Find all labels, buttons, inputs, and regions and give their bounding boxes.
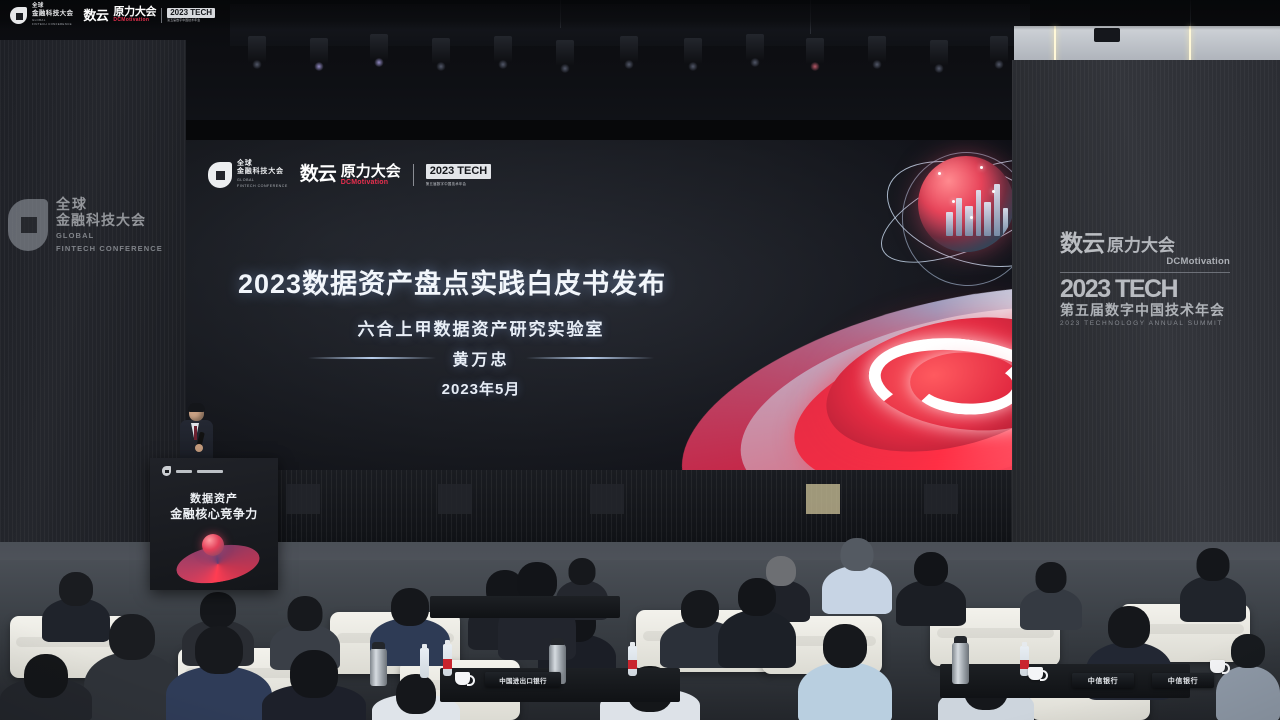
conference-stage-photo: 全球 金融科技大会 GLOBAL FINTECH CONFERENCE 数云 原… bbox=[0, 0, 1280, 720]
screen-subtitle-org: 六合上甲数据资产研究实验室 bbox=[186, 315, 776, 340]
decor-rule-right bbox=[526, 357, 654, 359]
wall-texture bbox=[1012, 60, 1280, 600]
stage-light bbox=[248, 36, 266, 62]
divider bbox=[1060, 272, 1230, 273]
screen-shuyun: 数云 bbox=[300, 165, 336, 184]
stage-light bbox=[620, 36, 638, 62]
stage-apron bbox=[186, 470, 1012, 542]
overlay-year-sub: 第五届数字中国技术年会 bbox=[167, 19, 215, 22]
stage-artwork-graphic bbox=[706, 150, 1012, 470]
overlay-divider bbox=[161, 8, 162, 23]
left-wall-en-line2: FINTECH CONFERENCE bbox=[56, 244, 163, 254]
thermos-flask bbox=[370, 648, 387, 686]
stage-light bbox=[746, 34, 764, 60]
overlay-fintech-logo: 全球 金融科技大会 GLOBAL FINTECH CONFERENCE bbox=[10, 4, 73, 26]
water-bottle bbox=[420, 648, 429, 678]
screen-yuanli: 原力大会 bbox=[341, 164, 401, 179]
overlay-year-tech: 2023 TECH bbox=[167, 8, 215, 18]
fintech-mark-icon bbox=[162, 466, 171, 476]
left-wall-cn-line1: 全球 bbox=[56, 196, 163, 212]
stage-light bbox=[990, 36, 1008, 62]
fintech-mark-icon bbox=[10, 7, 27, 24]
apron-panel bbox=[590, 484, 624, 514]
nameplate-text: 中信银行 bbox=[1168, 676, 1198, 686]
chrome-sphere-icon bbox=[918, 156, 1012, 252]
stage-light bbox=[806, 38, 824, 64]
nameplate-text: 中国进出口银行 bbox=[499, 675, 547, 685]
right-wall-yuanli: 原力大会 bbox=[1107, 237, 1175, 254]
logo-divider bbox=[413, 164, 414, 186]
podium-logo-placeholder bbox=[176, 470, 192, 473]
podium-logo-placeholder bbox=[197, 470, 223, 473]
stage-light bbox=[370, 34, 388, 60]
audience-person bbox=[1216, 634, 1280, 720]
apron-panel bbox=[286, 484, 320, 514]
screen-fintech-cn2: 金融科技大会 bbox=[237, 168, 288, 176]
broadcast-overlay-bar: 全球 金融科技大会 GLOBAL FINTECH CONFERENCE 数云 原… bbox=[0, 0, 1280, 30]
ceiling-projector bbox=[1094, 28, 1120, 42]
right-wall bbox=[1012, 60, 1280, 600]
audience-person bbox=[718, 578, 796, 664]
podium-line1: 数据资产 bbox=[150, 490, 278, 506]
screen-fintech-en2: FINTECH CONFERENCE bbox=[237, 184, 288, 189]
tea-cup bbox=[1210, 660, 1225, 673]
screen-year-sub: 第五届数字中国技术年会 bbox=[426, 181, 491, 186]
overlay-fintech-cn2: 金融科技大会 bbox=[32, 11, 73, 18]
water-bottle bbox=[628, 646, 637, 676]
stage-light bbox=[432, 38, 450, 64]
podium: 数据资产 金融核心竞争力 bbox=[150, 458, 278, 590]
tea-cup bbox=[455, 672, 470, 685]
thermos-flask bbox=[952, 642, 969, 684]
screen-date: 2023年5月 bbox=[186, 378, 776, 399]
screen-speaker-name: 黄万忠 bbox=[452, 346, 509, 370]
stage-light bbox=[556, 40, 574, 66]
left-wall-en-line1: GLOBAL bbox=[56, 231, 163, 241]
podium-line2: 金融核心竞争力 bbox=[150, 505, 278, 522]
main-led-screen: 全球 金融科技大会 GLOBAL FINTECH CONFERENCE 数云 原… bbox=[186, 140, 1012, 470]
audience-person bbox=[896, 552, 966, 624]
overlay-fintech-cn1: 全球 bbox=[32, 4, 73, 10]
overlay-shuyun: 数云 bbox=[83, 9, 108, 22]
apron-panel-lit bbox=[806, 484, 840, 514]
tea-cup bbox=[1028, 667, 1043, 680]
podium-sphere-icon bbox=[202, 534, 224, 556]
overlay-dcmotivation-logo: 数云 原力大会 DCMotivation 2023 TECH 第五届数字中国技术… bbox=[83, 7, 215, 23]
apron-panel bbox=[438, 484, 472, 514]
nameplate-citic-bank: 中信银行 bbox=[1072, 673, 1134, 688]
fintech-mark-icon bbox=[8, 199, 48, 251]
screen-dc-en: DCMotivation bbox=[341, 179, 401, 186]
overlay-fintech-en2: FINTECH CONFERENCE bbox=[32, 23, 73, 26]
apron-panel bbox=[924, 484, 958, 514]
nameplate-citic-bank: 中信银行 bbox=[1152, 673, 1214, 688]
stage-light bbox=[684, 38, 702, 64]
screen-year-tech: 2023 TECH bbox=[426, 164, 491, 179]
audience-person bbox=[822, 538, 892, 612]
left-wall-fintech-logo: 全球 金融科技大会 GLOBAL FINTECH CONFERENCE bbox=[8, 196, 163, 254]
right-wall-dc-en: DCMotivation bbox=[1060, 256, 1230, 267]
stage-light bbox=[310, 38, 328, 64]
podium-artwork bbox=[172, 530, 256, 578]
audience-person bbox=[166, 626, 272, 720]
left-wall-cn-line2: 金融科技大会 bbox=[56, 212, 163, 228]
water-bottle bbox=[443, 644, 452, 676]
audience-person bbox=[1180, 548, 1246, 620]
right-wall-year-tech: 2023 TECH bbox=[1060, 277, 1230, 302]
screen-fintech-en1: GLOBAL bbox=[237, 178, 288, 183]
screen-main-title: 2023数据资产盘点实践白皮书发布 bbox=[238, 262, 666, 301]
audience-person bbox=[262, 650, 366, 720]
stage-light bbox=[494, 36, 512, 62]
right-wall-shuyun: 数云 bbox=[1060, 232, 1104, 255]
podium-logo-bar bbox=[162, 466, 223, 476]
screen-speaker-row: 黄万忠 bbox=[186, 346, 776, 370]
screen-logo-bar: 全球 金融科技大会 GLOBAL FINTECH CONFERENCE 数云 原… bbox=[208, 160, 491, 189]
right-wall-dcmotivation-logo: 数云 原力大会 DCMotivation 2023 TECH 第五届数字中国技术… bbox=[1060, 232, 1230, 327]
stage-light bbox=[868, 36, 886, 62]
conference-table bbox=[430, 596, 620, 618]
right-wall-cn-title: 第五届数字中国技术年会 bbox=[1060, 303, 1230, 318]
stage-light bbox=[930, 40, 948, 66]
fintech-mark-icon bbox=[208, 162, 232, 188]
audience-person bbox=[0, 654, 92, 720]
audience-person bbox=[1020, 562, 1082, 628]
overlay-dc-en: DCMotivation bbox=[113, 18, 156, 23]
nameplate-exim-bank: 中国进出口银行 bbox=[485, 672, 561, 687]
right-wall-en-title: 2023 TECHNOLOGY ANNUAL SUMMIT bbox=[1060, 320, 1230, 327]
city-skyline-icon bbox=[946, 180, 1008, 236]
nameplate-text: 中信银行 bbox=[1088, 676, 1118, 686]
audience-person bbox=[798, 624, 892, 720]
decor-rule-left bbox=[308, 357, 436, 359]
